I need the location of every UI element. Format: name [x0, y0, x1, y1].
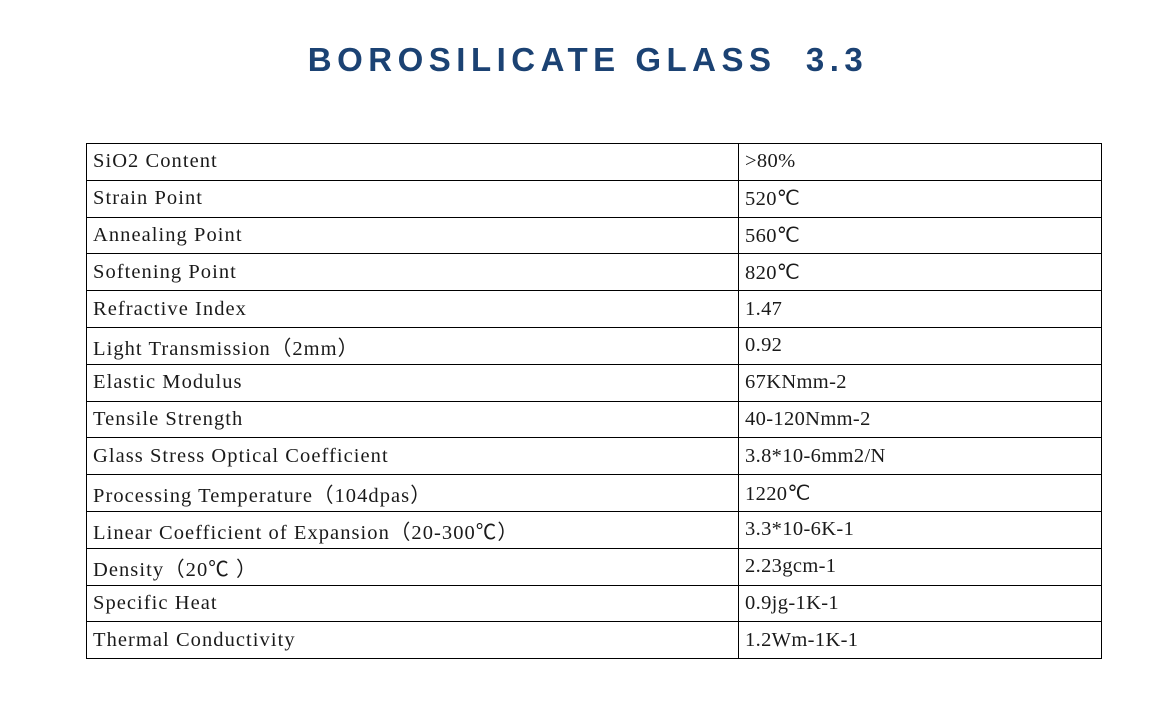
table-row: Annealing Point 560℃	[87, 217, 1102, 254]
property-value-cell: 1.47	[739, 291, 1102, 328]
table-row: Density（20℃ ） 2.23gcm-1	[87, 548, 1102, 585]
property-value-cell: 820℃	[739, 254, 1102, 291]
property-value-cell: 520℃	[739, 180, 1102, 217]
table-row: SiO2 Content >80%	[87, 144, 1102, 181]
property-name-cell: Softening Point	[87, 254, 739, 291]
specification-table: SiO2 Content >80% Strain Point 520℃ Anne…	[86, 143, 1102, 659]
property-name-cell: Light Transmission（2mm）	[87, 327, 739, 364]
table-row: Processing Temperature（104dpas） 1220℃	[87, 475, 1102, 512]
property-name-cell: Thermal Conductivity	[87, 622, 739, 659]
property-name-cell: Tensile Strength	[87, 401, 739, 438]
specification-table-body: SiO2 Content >80% Strain Point 520℃ Anne…	[87, 144, 1102, 659]
table-row: Strain Point 520℃	[87, 180, 1102, 217]
table-row: Glass Stress Optical Coefficient 3.8*10-…	[87, 438, 1102, 475]
property-name-cell: Density（20℃ ）	[87, 548, 739, 585]
property-value-cell: 2.23gcm-1	[739, 548, 1102, 585]
property-name-cell: Specific Heat	[87, 585, 739, 622]
specification-table-container: SiO2 Content >80% Strain Point 520℃ Anne…	[86, 143, 1101, 659]
property-value-cell: 67KNmm-2	[739, 364, 1102, 401]
property-value-cell: 40-120Nmm-2	[739, 401, 1102, 438]
table-row: Tensile Strength 40-120Nmm-2	[87, 401, 1102, 438]
property-name-cell: SiO2 Content	[87, 144, 739, 181]
property-name-cell: Elastic Modulus	[87, 364, 739, 401]
property-value-cell: 0.9jg-1K-1	[739, 585, 1102, 622]
property-value-cell: 3.8*10-6mm2/N	[739, 438, 1102, 475]
property-value-cell: 560℃	[739, 217, 1102, 254]
table-row: Elastic Modulus 67KNmm-2	[87, 364, 1102, 401]
document-page: BOROSILICATE GLASS 3.3 SiO2 Content >80%…	[0, 0, 1176, 728]
table-row: Softening Point 820℃	[87, 254, 1102, 291]
table-row: Light Transmission（2mm） 0.92	[87, 327, 1102, 364]
property-value-cell: 1220℃	[739, 475, 1102, 512]
property-value-cell: >80%	[739, 144, 1102, 181]
table-row: Refractive Index 1.47	[87, 291, 1102, 328]
table-row: Specific Heat 0.9jg-1K-1	[87, 585, 1102, 622]
property-name-cell: Processing Temperature（104dpas）	[87, 475, 739, 512]
table-row: Thermal Conductivity 1.2Wm-1K-1	[87, 622, 1102, 659]
property-value-cell: 3.3*10-6K-1	[739, 511, 1102, 548]
property-name-cell: Annealing Point	[87, 217, 739, 254]
table-row: Linear Coefficient of Expansion（20-300℃）…	[87, 511, 1102, 548]
property-name-cell: Strain Point	[87, 180, 739, 217]
property-name-cell: Glass Stress Optical Coefficient	[87, 438, 739, 475]
property-value-cell: 0.92	[739, 327, 1102, 364]
property-name-cell: Refractive Index	[87, 291, 739, 328]
page-title: BOROSILICATE GLASS 3.3	[0, 40, 1176, 80]
property-name-cell: Linear Coefficient of Expansion（20-300℃）	[87, 511, 739, 548]
property-value-cell: 1.2Wm-1K-1	[739, 622, 1102, 659]
